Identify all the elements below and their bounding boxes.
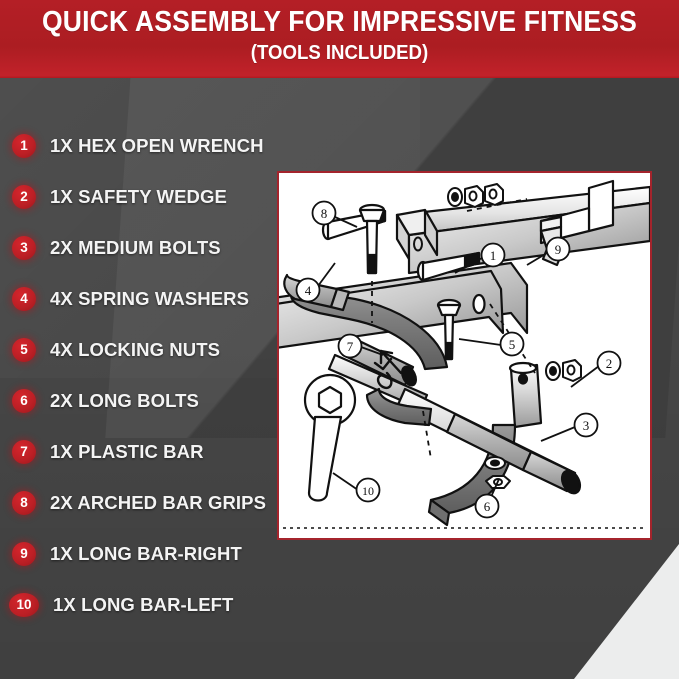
list-item: 8 2X ARCHED BAR GRIPS xyxy=(0,477,280,528)
item-label: 1X LONG BAR-LEFT xyxy=(53,594,233,616)
callout-1: 1 xyxy=(482,244,505,267)
fastener-washer-nut-right xyxy=(546,360,581,381)
fastener-washer-nut-top xyxy=(448,184,503,207)
svg-text:10: 10 xyxy=(362,484,374,498)
svg-text:4: 4 xyxy=(305,283,312,298)
list-item: 4 4X SPRING WASHERS xyxy=(0,273,280,324)
page-subtitle: (TOOLS INCLUDED) xyxy=(24,42,655,65)
item-number-badge: 8 xyxy=(12,491,36,515)
page-title: QUICK ASSEMBLY FOR IMPRESSIVE FITNESS xyxy=(24,6,655,39)
item-label: 1X HEX OPEN WRENCH xyxy=(50,135,264,157)
item-number-badge: 4 xyxy=(12,287,36,311)
item-number-badge: 3 xyxy=(12,236,36,260)
list-item: 5 4X LOCKING NUTS xyxy=(0,324,280,375)
callout-6: 6 xyxy=(476,495,499,518)
corner-accent-triangle xyxy=(574,544,679,679)
bolt-center-vertical xyxy=(360,205,384,273)
product-infographic: QUICK ASSEMBLY FOR IMPRESSIVE FITNESS (T… xyxy=(0,0,679,679)
item-label: 1X LONG BAR-RIGHT xyxy=(50,543,242,565)
list-item: 6 2X LONG BOLTS xyxy=(0,375,280,426)
list-item: 10 1X LONG BAR-LEFT xyxy=(0,579,280,630)
svg-text:6: 6 xyxy=(484,499,491,514)
assembly-diagram-illustration: 8 1 9 4 7 xyxy=(279,173,650,538)
svg-text:8: 8 xyxy=(321,206,328,221)
hex-wrench-tool xyxy=(305,375,355,501)
list-item: 2 1X SAFETY WEDGE xyxy=(0,171,280,222)
callout-2: 2 xyxy=(598,352,621,375)
item-number-badge: 2 xyxy=(12,185,36,209)
svg-text:7: 7 xyxy=(347,339,354,354)
item-label: 2X MEDIUM BOLTS xyxy=(50,237,221,259)
item-label: 1X SAFETY WEDGE xyxy=(50,186,227,208)
header-banner: QUICK ASSEMBLY FOR IMPRESSIVE FITNESS (T… xyxy=(0,0,679,78)
item-number-badge: 6 xyxy=(12,389,36,413)
item-label: 2X LONG BOLTS xyxy=(50,390,199,412)
assembly-diagram-panel: 8 1 9 4 7 xyxy=(277,171,652,540)
item-label: 4X SPRING WASHERS xyxy=(50,288,249,310)
svg-text:2: 2 xyxy=(606,356,613,371)
callout-3: 3 xyxy=(575,414,598,437)
parts-list: 1 1X HEX OPEN WRENCH 2 1X SAFETY WEDGE 3… xyxy=(0,120,280,630)
list-item: 1 1X HEX OPEN WRENCH xyxy=(0,120,280,171)
item-number-badge: 7 xyxy=(12,440,36,464)
callout-10: 10 xyxy=(357,479,380,502)
list-item: 3 2X MEDIUM BOLTS xyxy=(0,222,280,273)
callout-9: 9 xyxy=(547,238,570,261)
callout-7: 7 xyxy=(339,335,362,358)
svg-text:3: 3 xyxy=(583,418,590,433)
svg-text:5: 5 xyxy=(509,337,516,352)
item-number-badge: 10 xyxy=(9,593,39,617)
right-vertical-tube xyxy=(510,363,541,427)
callout-4: 4 xyxy=(297,279,320,302)
svg-text:1: 1 xyxy=(490,248,497,263)
list-item: 9 1X LONG BAR-RIGHT xyxy=(0,528,280,579)
callout-8: 8 xyxy=(313,202,336,225)
list-item: 7 1X PLASTIC BAR xyxy=(0,426,280,477)
item-number-badge: 9 xyxy=(12,542,36,566)
item-label: 4X LOCKING NUTS xyxy=(50,339,220,361)
callout-5: 5 xyxy=(501,333,524,356)
item-label: 1X PLASTIC BAR xyxy=(50,441,204,463)
item-number-badge: 1 xyxy=(12,134,36,158)
svg-text:9: 9 xyxy=(555,242,562,257)
item-number-badge: 5 xyxy=(12,338,36,362)
item-label: 2X ARCHED BAR GRIPS xyxy=(50,492,266,514)
